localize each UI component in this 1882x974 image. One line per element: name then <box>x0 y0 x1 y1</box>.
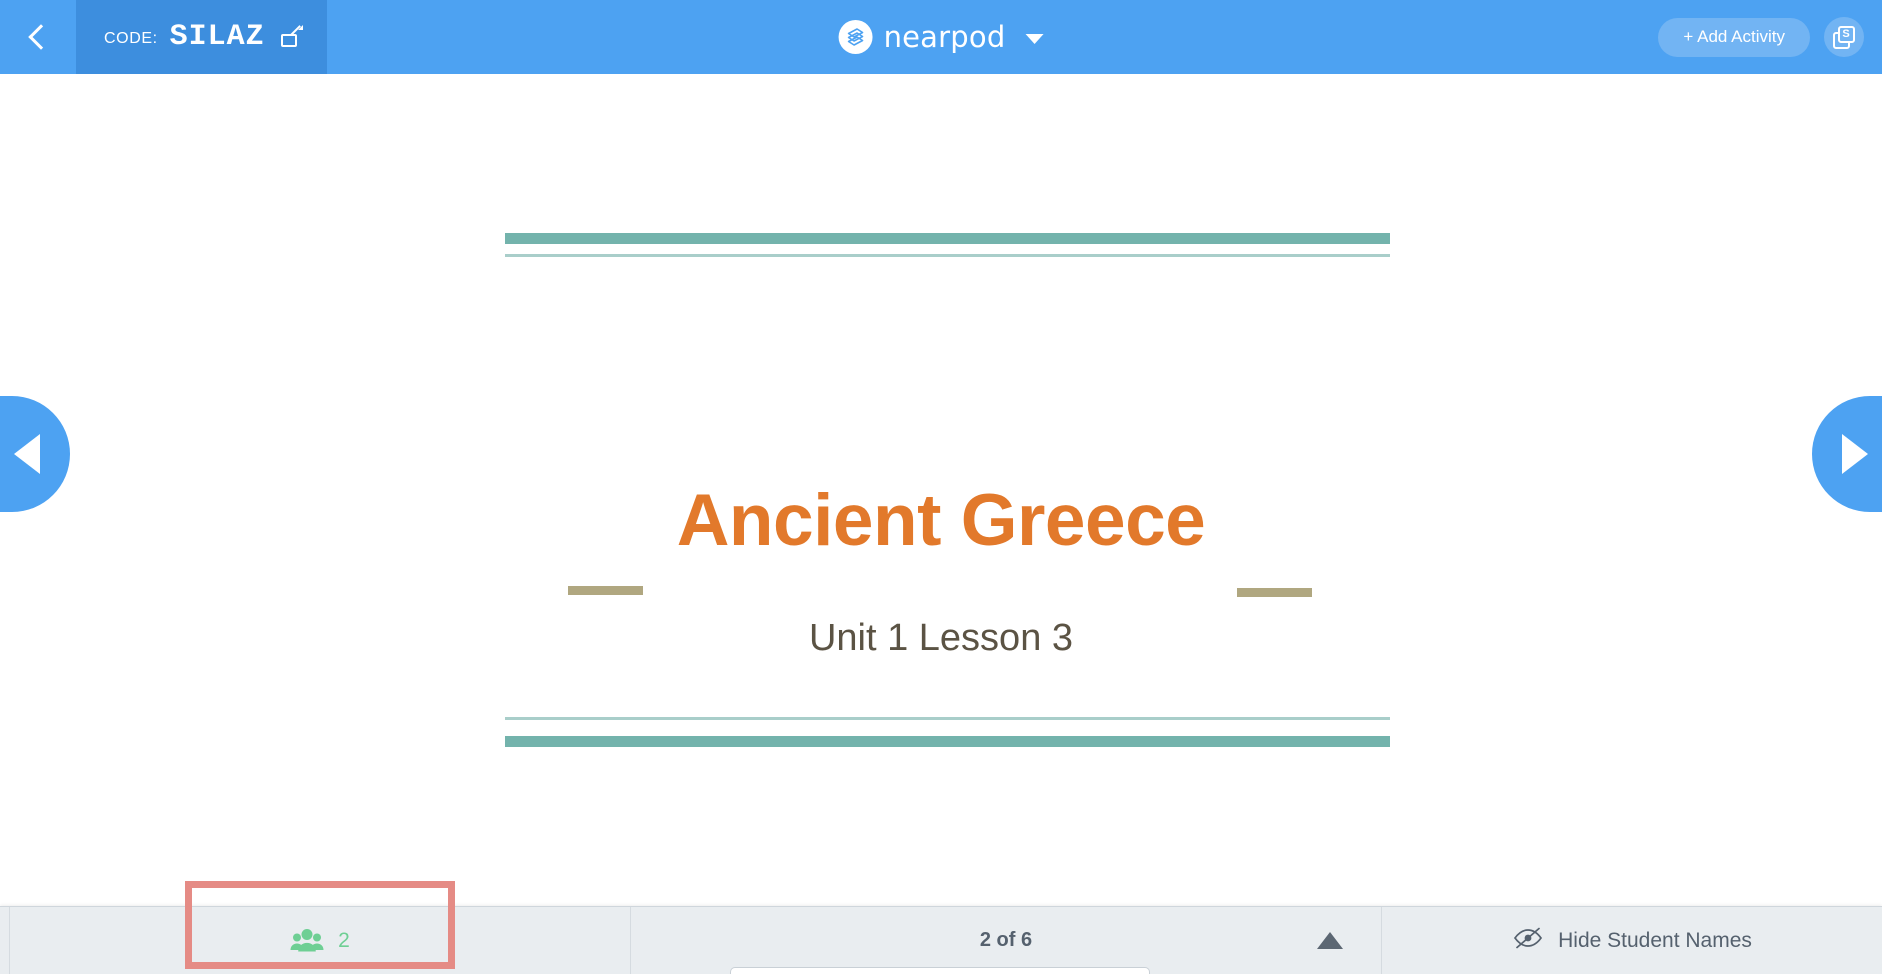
slides-stack-shape: S <box>1833 26 1856 49</box>
share-export-icon[interactable] <box>281 27 301 47</box>
slide-subtitle: Unit 1 Lesson 3 <box>0 619 1882 657</box>
toolbar-left-spacer <box>0 907 10 974</box>
code-value: SILAZ <box>170 20 265 54</box>
decor-rule-top-thick <box>505 233 1390 244</box>
add-activity-button[interactable]: + Add Activity <box>1658 18 1810 57</box>
share-arrow-shape <box>291 25 303 37</box>
decor-rule-top-thin <box>505 254 1390 257</box>
slide-pager[interactable]: 2 of 6 <box>631 907 1382 974</box>
hide-student-names-button[interactable]: Hide Student Names <box>1382 907 1882 974</box>
eye-slash-icon <box>1512 926 1544 955</box>
collapsed-panel-sliver[interactable] <box>730 967 1150 974</box>
decor-dash-right <box>1237 588 1312 597</box>
student-count: 2 <box>338 929 350 953</box>
slide-title: Ancient Greece <box>0 484 1882 557</box>
top-bar: CODE: SILAZ nearpod + Add Ac <box>0 0 1882 74</box>
slide-canvas: Ancient Greece Unit 1 Lesson 3 <box>0 74 1882 902</box>
chevron-down-icon[interactable] <box>1025 34 1043 44</box>
slides-stack-icon[interactable]: S <box>1824 17 1864 57</box>
brand-logo[interactable]: nearpod <box>839 20 1044 54</box>
triangle-right-icon <box>1842 434 1868 474</box>
nearpod-presentation-app: CODE: SILAZ nearpod + Add Ac <box>0 0 1882 974</box>
top-bar-actions: + Add Activity S <box>1658 0 1864 74</box>
triangle-up-icon[interactable] <box>1317 932 1343 949</box>
chevron-left-icon <box>28 24 53 49</box>
back-button[interactable] <box>0 0 76 74</box>
nearpod-logo-icon <box>839 20 873 54</box>
decor-rule-bottom-thick <box>505 736 1390 747</box>
people-group-icon <box>290 929 324 953</box>
bottom-toolbar: 2 2 of 6 Hide Student Names <box>0 906 1882 974</box>
students-panel-button[interactable]: 2 <box>10 907 631 974</box>
session-code-pill[interactable]: CODE: SILAZ <box>76 0 327 74</box>
decor-rule-bottom-thin <box>505 717 1390 720</box>
decor-dash-left <box>568 586 643 595</box>
pager-text: 2 of 6 <box>980 929 1032 952</box>
brand-name: nearpod <box>884 20 1006 54</box>
hide-student-names-label: Hide Student Names <box>1558 929 1752 953</box>
code-label: CODE: <box>104 27 158 48</box>
slides-sheet-front: S <box>1838 26 1855 43</box>
triangle-left-icon <box>14 434 40 474</box>
